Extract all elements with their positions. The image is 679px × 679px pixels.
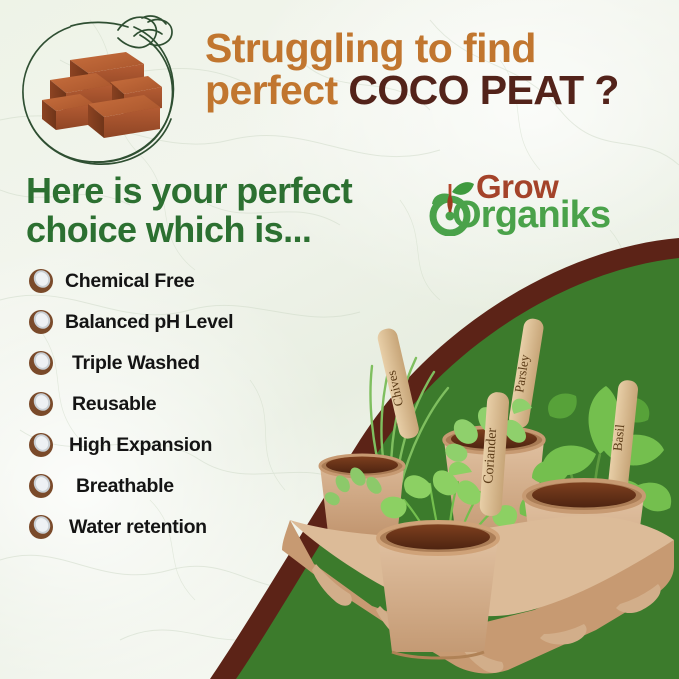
coconut-icon [26,266,56,296]
coconut-icon [26,430,56,460]
logo-word-organiks: Organiks [452,194,610,237]
headline-line-1: Struggling to find [205,28,671,70]
list-item-label: Breathable [76,475,174,498]
list-item: Breathable [26,467,294,505]
brand-logo: Grow Organiks [424,168,614,240]
headline-line-2-prefix: perfect [205,67,348,113]
coconut-icon [26,471,56,501]
list-item-label: Balanced pH Level [65,311,233,334]
subheadline-line-1: Here is your perfect [26,172,398,211]
list-item-label: High Expansion [69,434,212,457]
coconut-icon [26,307,56,337]
coco-peat-bricks-image [36,38,164,144]
coco-peat-badge [14,12,186,168]
seedling-tray-photo: Chives Parsley [276,288,679,679]
headline-emphasis: COCO PEAT ? [348,67,619,113]
list-item: Reusable [26,385,294,423]
plant-label-basil: Basil [610,423,628,452]
list-item: Water retention [26,508,294,546]
list-item-label: Reusable [72,393,156,416]
headline: Struggling to find perfect COCO PEAT ? [205,28,671,112]
coconut-icon [26,389,56,419]
list-item: Triple Washed [26,344,294,382]
list-item: Balanced pH Level [26,303,294,341]
list-item: High Expansion [26,426,294,464]
list-item-label: Triple Washed [72,352,200,375]
headline-line-2: perfect COCO PEAT ? [205,70,671,112]
subheadline: Here is your perfect choice which is... [26,172,398,250]
subheadline-line-2: choice which is... [26,211,398,250]
poster-canvas: Struggling to find perfect COCO PEAT ? H… [0,0,679,679]
coconut-icon [26,512,56,542]
list-item-label: Water retention [69,516,207,539]
list-item: Chemical Free [26,262,294,300]
feature-list: Chemical Free Balanced pH Level Triple W… [26,262,294,549]
coconut-icon [26,348,56,378]
list-item-label: Chemical Free [65,270,194,293]
